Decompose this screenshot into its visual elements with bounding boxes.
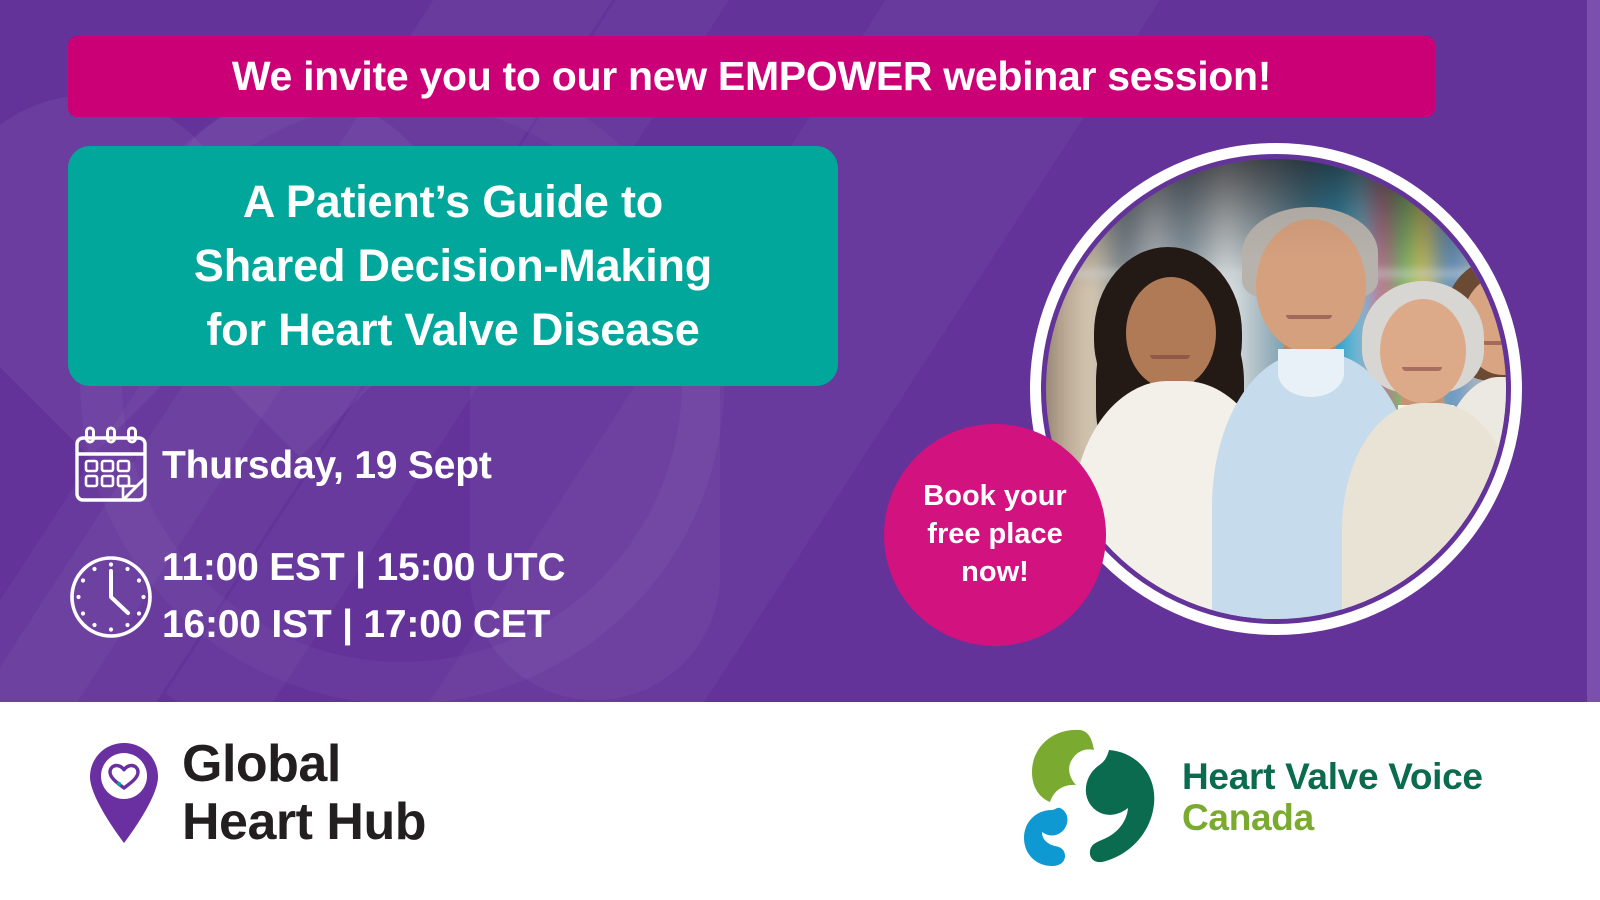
title-line-1: A Patient’s Guide to	[243, 170, 663, 234]
comma-green	[1032, 730, 1094, 802]
title-line-3: for Heart Valve Disease	[206, 298, 699, 362]
map-pin-heart-icon	[88, 741, 160, 845]
hvv-line-2: Canada	[1182, 798, 1483, 839]
comma-dark-green	[1086, 750, 1154, 862]
invite-banner: We invite you to our new EMPOWER webinar…	[68, 36, 1435, 117]
cta-line-2: free place	[927, 516, 1062, 554]
title-line-2: Shared Decision-Making	[194, 234, 712, 298]
event-time-lines: 11:00 EST | 15:00 UTC 16:00 IST | 17:00 …	[162, 540, 565, 653]
invite-banner-text: We invite you to our new EMPOWER webinar…	[232, 53, 1271, 100]
event-time-row: 11:00 EST | 15:00 UTC 16:00 IST | 17:00 …	[60, 540, 565, 653]
event-date-text: Thursday, 19 Sept	[162, 444, 492, 488]
ghh-line-2: Heart Hub	[182, 793, 426, 851]
hero-right-edge-strip	[1587, 0, 1600, 702]
heart-valve-voice-canada-logo: Heart Valve Voice Canada	[1010, 722, 1483, 874]
global-heart-hub-logo: Global Heart Hub	[88, 735, 426, 851]
clock-icon	[60, 551, 162, 643]
cta-line-1: Book your	[923, 478, 1066, 516]
calendar-icon	[60, 420, 162, 512]
comma-blue	[1024, 808, 1067, 866]
webinar-title-card: A Patient’s Guide to Shared Decision-Mak…	[68, 146, 838, 386]
hvv-line-1: Heart Valve Voice	[1182, 757, 1483, 798]
three-comma-swirl-icon	[1010, 722, 1162, 874]
book-free-place-badge[interactable]: Book your free place now!	[884, 424, 1106, 646]
global-heart-hub-wordmark: Global Heart Hub	[182, 735, 426, 851]
photo-white-ring	[1030, 143, 1522, 635]
event-time-line-2: 16:00 IST | 17:00 CET	[162, 597, 565, 654]
cta-line-3: now!	[961, 554, 1029, 592]
event-date-row: Thursday, 19 Sept	[60, 420, 565, 512]
event-details: Thursday, 19 Sept	[60, 420, 565, 653]
webinar-promo-poster: We invite you to our new EMPOWER webinar…	[0, 0, 1600, 900]
event-time-line-1: 11:00 EST | 15:00 UTC	[162, 540, 565, 597]
heart-valve-voice-wordmark: Heart Valve Voice Canada	[1182, 757, 1483, 838]
ghh-line-1: Global	[182, 735, 426, 793]
